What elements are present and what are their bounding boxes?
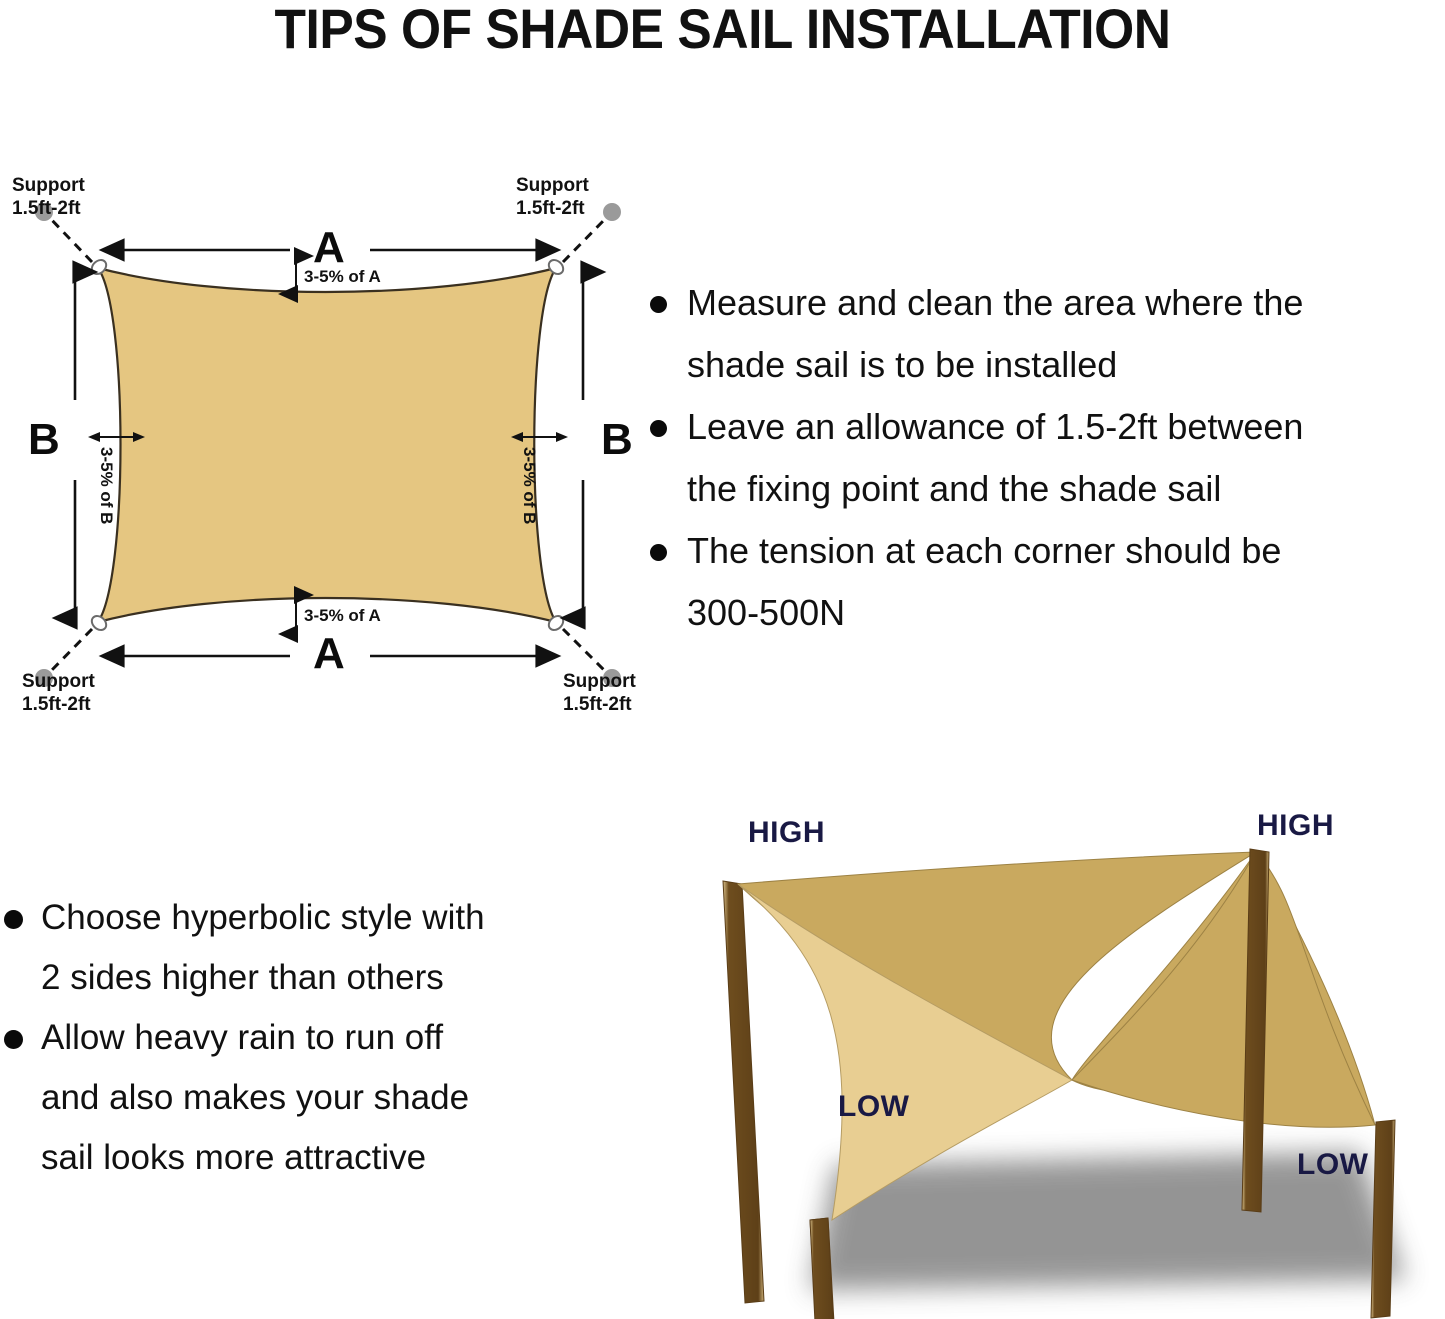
- dimension-letter-bottom-a: A: [313, 632, 345, 676]
- post-high-left: [723, 881, 764, 1303]
- support-label-line1: Support: [12, 175, 85, 196]
- hyperbolic-sail-diagram: HIGH HIGH LOW LOW: [660, 780, 1445, 1319]
- support-label-line1: Support: [22, 671, 95, 692]
- support-line-top-left: [48, 216, 92, 262]
- support-label-line2: 1.5ft-2ft: [516, 198, 585, 219]
- support-line-bottom-right: [563, 629, 608, 674]
- list-item: Measure and clean the area where the sha…: [650, 272, 1445, 396]
- dimension-letter-top-a: A: [313, 226, 345, 270]
- bullet-dot-icon: [4, 910, 23, 929]
- list-item: Allow heavy rain to run off and also mak…: [4, 1008, 634, 1188]
- label-high-right: HIGH: [1257, 809, 1334, 843]
- hyper-diagram-graphics: [660, 780, 1445, 1319]
- post-low-right: [1371, 1120, 1395, 1318]
- rectangular-sail-diagram: A A B B 3-5% of A 3-5% of A 3-5% of B 3-…: [0, 150, 660, 740]
- bullet-dot-icon: [650, 296, 667, 313]
- support-line-top-right: [563, 216, 608, 262]
- hyperbolic-style-tips-list: Choose hyperbolic style with 2 sides hig…: [4, 888, 634, 1188]
- bullet-dot-icon: [4, 1030, 23, 1049]
- installation-tips-list: Measure and clean the area where the sha…: [650, 272, 1445, 644]
- dimension-letter-right-b: B: [601, 418, 633, 462]
- curve-label-right: 3-5% of B: [519, 447, 539, 524]
- support-label-top-left: Support1.5ft-2ft: [12, 174, 85, 220]
- list-item-text: Measure and clean the area where the sha…: [687, 272, 1303, 396]
- curve-label-top: 3-5% of A: [304, 267, 381, 287]
- list-item-text: Choose hyperbolic style with 2 sides hig…: [41, 888, 485, 1008]
- label-low-left: LOW: [838, 1090, 909, 1124]
- support-label-bottom-right: Support1.5ft-2ft: [563, 670, 636, 716]
- support-label-bottom-left: Support1.5ft-2ft: [22, 670, 95, 716]
- label-high-left: HIGH: [748, 816, 825, 850]
- support-label-top-right: Support1.5ft-2ft: [516, 174, 589, 220]
- curve-label-bottom: 3-5% of A: [304, 606, 381, 626]
- curve-label-left: 3-5% of B: [96, 447, 116, 524]
- support-line-bottom-left: [48, 629, 92, 674]
- bullet-dot-icon: [650, 544, 667, 561]
- sail-shape: [98, 268, 556, 622]
- support-label-line2: 1.5ft-2ft: [22, 694, 91, 715]
- list-item-text: The tension at each corner should be 300…: [687, 520, 1281, 644]
- list-item-text: Allow heavy rain to run off and also mak…: [41, 1008, 469, 1188]
- support-dot-top-right: [603, 203, 621, 221]
- support-label-line1: Support: [516, 175, 589, 196]
- list-item: Choose hyperbolic style with 2 sides hig…: [4, 888, 634, 1008]
- list-item-text: Leave an allowance of 1.5-2ft between th…: [687, 396, 1303, 520]
- list-item: The tension at each corner should be 300…: [650, 520, 1445, 644]
- list-item: Leave an allowance of 1.5-2ft between th…: [650, 396, 1445, 520]
- label-low-right: LOW: [1297, 1148, 1368, 1182]
- support-label-line2: 1.5ft-2ft: [563, 694, 632, 715]
- dimension-letter-left-b: B: [28, 418, 60, 462]
- support-label-line2: 1.5ft-2ft: [12, 198, 81, 219]
- support-label-line1: Support: [563, 671, 636, 692]
- page-title: TIPS OF SHADE SAIL INSTALLATION: [58, 0, 1387, 60]
- bullet-dot-icon: [650, 420, 667, 437]
